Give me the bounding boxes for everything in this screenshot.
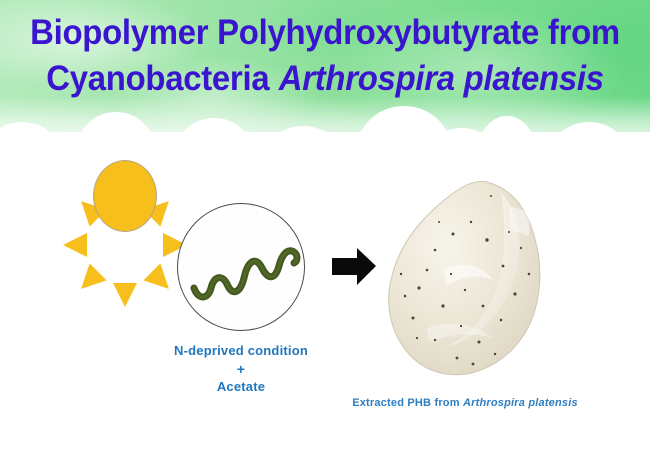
sun-ray [143, 263, 177, 297]
culture-condition-label: N-deprived condition + Acetate [146, 342, 336, 396]
abstract-title: Biopolymer Polyhydroxybutyrate from Cyan… [20, 10, 631, 102]
sun-ray [113, 283, 137, 307]
sun-ray [73, 263, 107, 297]
phb-extract-photo [383, 178, 563, 388]
phb-caption-plain: Extracted PHB from [352, 397, 460, 409]
condition-plus: + [146, 360, 336, 378]
spirulina-filament-icon [178, 204, 306, 332]
condition-line-2: Acetate [146, 378, 336, 396]
title-line-2: CyanobacteriaArthrospira platensis [20, 56, 631, 102]
right-arrow-icon [330, 246, 378, 288]
sun-icon [62, 132, 188, 258]
condition-line-1: N-deprived condition [146, 342, 336, 360]
sun-ray [63, 233, 87, 257]
graphical-abstract: Biopolymer Polyhydroxybutyrate from Cyan… [0, 0, 650, 450]
phb-caption-species: Arthrospira platensis [463, 397, 578, 409]
sun-disc [93, 160, 157, 232]
title-species-name: Arthrospira platensis [279, 59, 604, 98]
micrograph-circle [177, 203, 305, 331]
title-line-2-plain: Cyanobacteria [46, 59, 269, 98]
phb-caption: Extracted PHB from Arthrospira platensis [300, 397, 630, 409]
title-line-1: Biopolymer Polyhydroxybutyrate from [20, 10, 631, 56]
